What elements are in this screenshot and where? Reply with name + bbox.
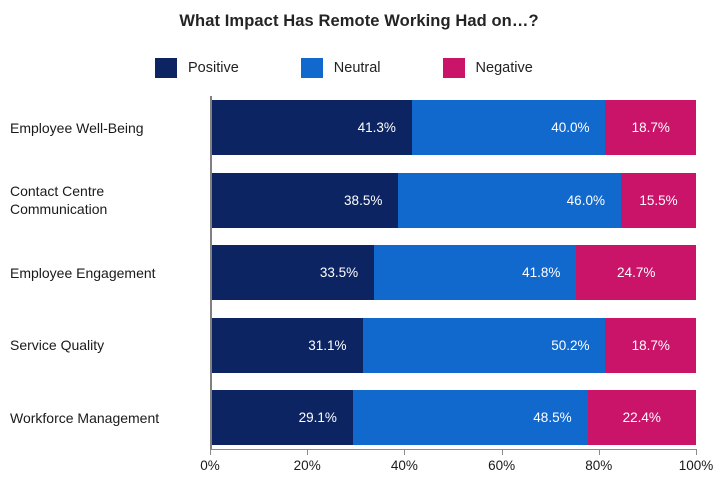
category-label-line: Communication (10, 200, 206, 218)
category-label-line: Workforce Management (10, 409, 206, 427)
chart-container: What Impact Has Remote Working Had on…? … (0, 0, 718, 490)
legend-swatch-negative-icon (443, 58, 465, 78)
x-axis-tick-label: 60% (488, 458, 515, 473)
plot-area: 41.3%40.0%18.7%38.5%46.0%15.5%33.5%41.8%… (210, 96, 696, 449)
legend-swatch-positive-icon (155, 58, 177, 78)
bar-segment-negative[interactable]: 18.7% (605, 100, 696, 155)
x-axis-tick (502, 449, 503, 455)
bar-row: 38.5%46.0%15.5% (212, 173, 696, 228)
bar-value-label: 29.1% (299, 410, 353, 425)
bar-row: 41.3%40.0%18.7% (212, 100, 696, 155)
x-axis-tick (696, 449, 697, 455)
bar-segment-neutral[interactable]: 48.5% (353, 390, 588, 445)
bar-value-label: 40.0% (551, 120, 605, 135)
legend-item-neutral[interactable]: Neutral (301, 58, 381, 78)
x-axis-tick (210, 449, 211, 455)
bar-value-label: 24.7% (617, 265, 655, 280)
x-axis-tick (404, 449, 405, 455)
bar-segment-neutral[interactable]: 50.2% (363, 318, 606, 373)
bar-segment-negative[interactable]: 15.5% (621, 173, 696, 228)
bar-value-label: 18.7% (632, 338, 670, 353)
bar-segment-positive[interactable]: 38.5% (212, 173, 398, 228)
bar-segment-negative[interactable]: 18.7% (605, 318, 696, 373)
x-axis-tick-label: 80% (585, 458, 612, 473)
bar-row: 29.1%48.5%22.4% (212, 390, 696, 445)
bar-value-label: 22.4% (623, 410, 661, 425)
bar-segment-neutral[interactable]: 46.0% (398, 173, 621, 228)
x-axis-tick (599, 449, 600, 455)
category-label: Workforce Management (10, 409, 206, 427)
bar-value-label: 18.7% (632, 120, 670, 135)
bar-value-label: 46.0% (567, 193, 621, 208)
category-label: Employee Well-Being (10, 119, 206, 137)
category-label-line: Employee Engagement (10, 264, 206, 282)
bar-row: 31.1%50.2%18.7% (212, 318, 696, 373)
bar-row: 33.5%41.8%24.7% (212, 245, 696, 300)
bar-segment-neutral[interactable]: 40.0% (412, 100, 606, 155)
x-axis-tick-label: 20% (294, 458, 321, 473)
bar-value-label: 31.1% (308, 338, 362, 353)
category-label: Employee Engagement (10, 264, 206, 282)
category-label-line: Employee Well-Being (10, 119, 206, 137)
x-axis-line (210, 449, 696, 450)
legend-item-negative[interactable]: Negative (443, 58, 533, 78)
bar-segment-negative[interactable]: 24.7% (576, 245, 696, 300)
bar-segment-positive[interactable]: 33.5% (212, 245, 374, 300)
category-label-line: Service Quality (10, 336, 206, 354)
bar-value-label: 50.2% (551, 338, 605, 353)
category-label: Service Quality (10, 336, 206, 354)
legend-item-positive[interactable]: Positive (155, 58, 239, 78)
chart-legend: PositiveNeutralNegative (155, 55, 575, 81)
category-label-line: Contact Centre (10, 182, 206, 200)
category-label: Contact CentreCommunication (10, 182, 206, 218)
legend-swatch-neutral-icon (301, 58, 323, 78)
bar-value-label: 38.5% (344, 193, 398, 208)
bar-value-label: 41.8% (522, 265, 576, 280)
x-axis-tick-label: 0% (200, 458, 220, 473)
bar-value-label: 33.5% (320, 265, 374, 280)
x-axis-tick-label: 100% (679, 458, 714, 473)
legend-label: Negative (476, 60, 533, 76)
legend-label: Positive (188, 60, 239, 76)
chart-title: What Impact Has Remote Working Had on…? (0, 12, 718, 31)
bar-value-label: 41.3% (358, 120, 412, 135)
bar-value-label: 48.5% (533, 410, 587, 425)
x-axis-tick (307, 449, 308, 455)
bar-segment-positive[interactable]: 41.3% (212, 100, 412, 155)
x-axis-tick-label: 40% (391, 458, 418, 473)
bar-segment-positive[interactable]: 29.1% (212, 390, 353, 445)
bar-segment-neutral[interactable]: 41.8% (374, 245, 576, 300)
legend-label: Neutral (334, 60, 381, 76)
bar-segment-positive[interactable]: 31.1% (212, 318, 363, 373)
bar-value-label: 15.5% (639, 193, 677, 208)
bar-segment-negative[interactable]: 22.4% (588, 390, 696, 445)
